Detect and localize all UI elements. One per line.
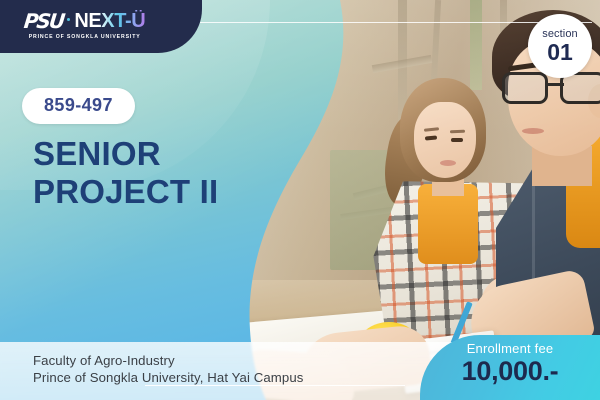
course-title-line-1: SENIOR xyxy=(33,135,218,173)
course-title: SENIOR PROJECT II xyxy=(33,135,218,211)
course-title-line-2: PROJECT II xyxy=(33,173,218,211)
footer-line-1: Faculty of Agro-Industry xyxy=(33,352,303,369)
psu-monogram-icon: PSU xyxy=(23,9,65,33)
logo-dot-icon xyxy=(67,18,70,21)
bridge xyxy=(546,83,564,86)
logo-wordmark-row: PSU NEXT-Ü xyxy=(24,9,145,33)
orange-tee xyxy=(418,184,478,264)
eyebrow xyxy=(450,130,465,134)
psu-next-u-logo[interactable]: PSU NEXT-Ü PRINCE OF SONGKLA UNIVERSITY xyxy=(24,9,145,40)
header-divider-line xyxy=(200,22,592,23)
section-badge: section 01 xyxy=(528,14,592,78)
section-badge-number: 01 xyxy=(547,40,573,64)
footer-affiliation: Faculty of Agro-Industry Prince of Songk… xyxy=(33,352,303,386)
next-u-wordmark: NEXT-Ü xyxy=(74,10,145,33)
face xyxy=(414,102,476,178)
eyeglasses-icon xyxy=(502,72,600,106)
enrollment-fee-amount: 10,000.- xyxy=(420,356,600,387)
header-bar: PSU NEXT-Ü PRINCE OF SONGKLA UNIVERSITY xyxy=(0,0,202,53)
footer-divider xyxy=(145,385,405,387)
lens xyxy=(502,72,548,104)
enrollment-fee-label: Enrollment fee xyxy=(420,341,600,356)
course-code-text: 859-497 xyxy=(44,95,113,115)
lips xyxy=(522,128,544,134)
course-promo-card: Faculty of Agro-Industry Prince of Songk… xyxy=(0,0,600,400)
eye xyxy=(451,138,463,142)
footer-line-2: Prince of Songkla University, Hat Yai Ca… xyxy=(33,369,303,386)
course-code-pill: 859-497 xyxy=(22,88,135,124)
lips xyxy=(440,160,456,166)
enrollment-fee-panel: Enrollment fee 10,000.- xyxy=(420,335,600,400)
logo-subtitle: PRINCE OF SONGKLA UNIVERSITY xyxy=(24,34,145,40)
